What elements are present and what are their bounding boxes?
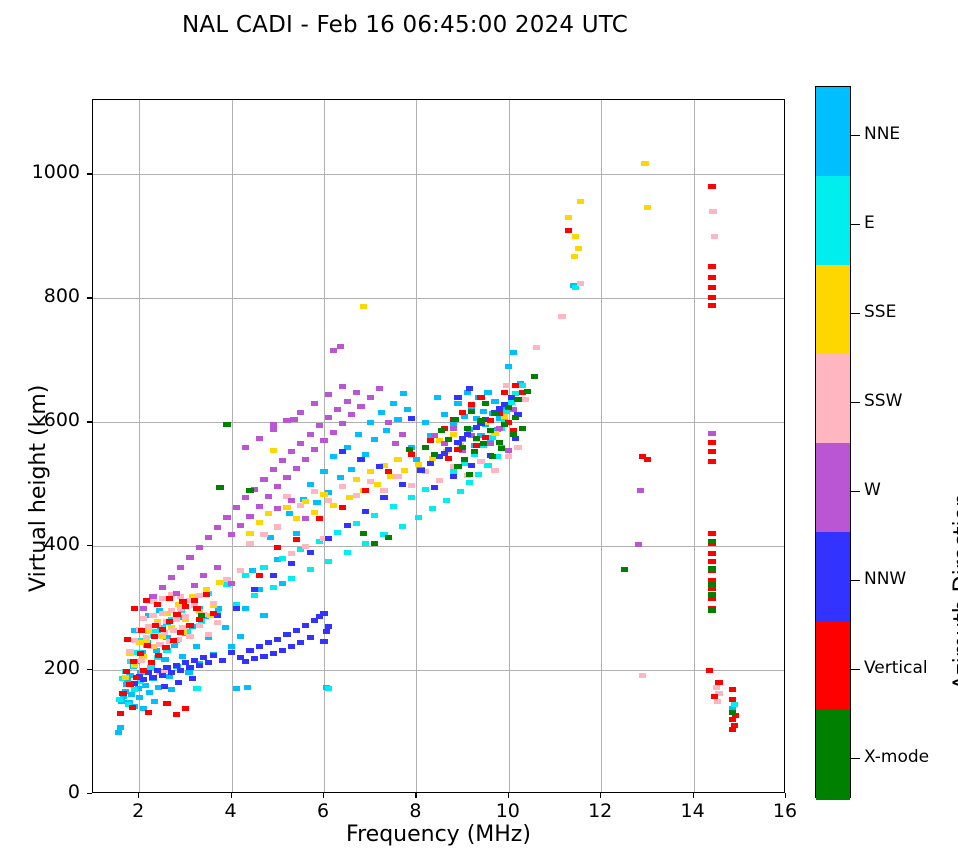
colorbar-label-w: W (864, 480, 881, 500)
data-point (154, 602, 161, 607)
data-point (203, 592, 210, 597)
data-point (186, 623, 193, 628)
data-point (214, 620, 221, 625)
data-point (713, 685, 720, 690)
data-point (205, 632, 212, 637)
data-point (362, 488, 369, 493)
data-point (297, 441, 304, 446)
data-point (143, 598, 150, 603)
data-point (457, 489, 464, 494)
data-point (392, 441, 399, 446)
data-point (223, 515, 230, 520)
data-point (471, 449, 478, 454)
data-point (279, 648, 286, 653)
data-point (288, 449, 295, 454)
x-tick-label: 14 (663, 800, 723, 822)
data-point (325, 686, 332, 691)
data-point (519, 383, 526, 388)
data-point (325, 559, 332, 564)
data-point (477, 395, 484, 400)
x-tick-mark (600, 793, 601, 798)
data-point (293, 628, 300, 633)
data-point (179, 654, 186, 659)
data-point (408, 483, 415, 488)
data-point (168, 687, 175, 692)
data-point (644, 205, 651, 210)
data-point (246, 531, 253, 536)
data-point (138, 658, 145, 663)
data-point (270, 573, 277, 578)
data-point (124, 637, 131, 642)
colorbar-label-nne: NNE (864, 124, 900, 144)
data-point (159, 627, 166, 632)
data-point (302, 457, 309, 462)
data-point (565, 215, 572, 220)
data-point (274, 524, 281, 529)
data-point (577, 199, 584, 204)
data-point (415, 515, 422, 520)
data-point (210, 611, 217, 616)
data-point (222, 625, 229, 630)
data-point (288, 644, 295, 649)
data-point (334, 407, 341, 412)
data-point (505, 405, 512, 410)
data-point (293, 516, 300, 521)
data-point (708, 285, 715, 290)
data-point (265, 494, 272, 499)
data-point (708, 608, 715, 613)
data-point (117, 711, 124, 716)
data-point (429, 506, 436, 511)
data-point (233, 686, 240, 691)
x-tick-label: 4 (201, 800, 261, 822)
data-point (558, 314, 565, 319)
data-point (131, 606, 138, 611)
data-point (256, 504, 263, 509)
data-point (214, 525, 221, 530)
y-tick-label: 0 (16, 781, 80, 803)
data-point (159, 585, 166, 590)
data-point (394, 417, 401, 422)
data-point (641, 161, 648, 166)
data-point (198, 613, 205, 618)
data-point (297, 410, 304, 415)
data-point (355, 432, 362, 437)
data-point (246, 514, 253, 519)
colorbar-tick (851, 313, 860, 314)
data-point (228, 644, 235, 649)
data-point (443, 498, 450, 503)
data-point (400, 391, 407, 396)
data-point (288, 561, 295, 566)
data-point (480, 441, 487, 446)
data-point (270, 585, 277, 590)
data-point (214, 565, 221, 570)
data-point (270, 651, 277, 656)
data-point (175, 680, 182, 685)
data-point (729, 710, 736, 715)
data-point (191, 598, 198, 603)
data-point (367, 395, 374, 400)
data-point (399, 482, 406, 487)
data-point (123, 669, 130, 674)
data-point (228, 581, 235, 586)
data-point (503, 383, 510, 388)
data-point (307, 567, 314, 572)
y-tick-mark (87, 793, 92, 794)
data-point (339, 484, 346, 489)
data-point (362, 509, 369, 514)
data-point (715, 680, 722, 685)
data-point (129, 705, 136, 710)
data-point (466, 386, 473, 391)
data-point (621, 567, 628, 572)
data-point (297, 503, 304, 508)
data-point (130, 659, 137, 664)
data-point (464, 426, 471, 431)
data-point (371, 437, 378, 442)
data-point (166, 596, 173, 601)
data-point (452, 417, 459, 422)
data-point (480, 409, 487, 414)
colorbar-band-ssw[interactable] (816, 354, 850, 444)
data-point (242, 659, 249, 664)
data-point (461, 457, 468, 462)
colorbar-band-e[interactable] (816, 176, 850, 266)
data-point (219, 658, 226, 663)
data-point (404, 407, 411, 412)
data-point (162, 645, 169, 650)
data-point (216, 485, 223, 490)
data-point (367, 479, 374, 484)
data-point (137, 651, 144, 656)
data-point (256, 573, 263, 578)
plot-area (92, 99, 785, 793)
data-point (487, 428, 494, 433)
data-point (505, 364, 512, 369)
colorbar-label-ssw: SSW (864, 391, 902, 411)
data-point (136, 695, 143, 700)
data-point (459, 410, 466, 415)
data-point (468, 402, 475, 407)
data-point (422, 420, 429, 425)
data-point (205, 535, 212, 540)
data-point (140, 677, 147, 682)
data-point (115, 730, 122, 735)
data-point (531, 374, 538, 379)
data-point (477, 459, 484, 464)
x-tick-label: 16 (755, 800, 815, 822)
data-point (482, 435, 489, 440)
data-point (168, 575, 175, 580)
data-point (565, 228, 572, 233)
colorbar-tick (851, 580, 860, 581)
colorbar-band-nne[interactable] (816, 87, 850, 177)
data-point (454, 464, 461, 469)
scatter-points (93, 100, 784, 792)
colorbar-band-sse[interactable] (816, 265, 850, 355)
data-point (117, 725, 124, 730)
data-point (491, 399, 498, 404)
data-point (288, 498, 295, 503)
data-point (186, 555, 193, 560)
data-point (408, 495, 415, 500)
data-point (445, 437, 452, 442)
data-point (270, 467, 277, 472)
data-point (307, 550, 314, 555)
colorbar-tick (851, 669, 860, 670)
data-point (182, 604, 189, 609)
data-point (159, 673, 166, 678)
data-point (168, 670, 175, 675)
data-point (177, 565, 184, 570)
data-point (482, 401, 489, 406)
data-point (233, 606, 240, 611)
data-point (302, 623, 309, 628)
data-point (344, 399, 351, 404)
data-point (731, 723, 738, 728)
data-point (323, 629, 330, 634)
data-point (337, 475, 344, 480)
colorbar-band-vertical[interactable] (816, 621, 850, 711)
data-point (380, 488, 387, 493)
colorbar-tick (851, 758, 860, 759)
colorbar-band-w[interactable] (816, 443, 850, 533)
colorbar-tick (851, 402, 860, 403)
colorbar-tick (851, 224, 860, 225)
data-point (383, 428, 390, 433)
data-point (205, 660, 212, 665)
data-point (161, 657, 168, 662)
data-point (189, 676, 196, 681)
data-point (512, 383, 519, 388)
data-point (325, 536, 332, 541)
data-point (200, 573, 207, 578)
y-tick-mark (87, 545, 92, 546)
data-point (731, 702, 738, 707)
data-point (487, 418, 494, 423)
data-point (155, 653, 162, 658)
data-point (635, 542, 642, 547)
data-point (510, 350, 517, 355)
data-point (307, 635, 314, 640)
data-point (228, 532, 235, 537)
x-tick-mark (693, 793, 694, 798)
data-point (406, 447, 413, 452)
data-point (237, 568, 244, 573)
data-point (466, 480, 473, 485)
data-point (450, 474, 457, 479)
data-point (288, 551, 295, 556)
data-point (438, 428, 445, 433)
data-point (708, 449, 715, 454)
data-point (459, 436, 466, 441)
colorbar-label-sse: SSE (864, 302, 896, 322)
data-point (260, 613, 267, 618)
data-point (244, 685, 251, 690)
data-point (399, 524, 406, 529)
data-point (161, 684, 168, 689)
data-point (182, 614, 189, 619)
data-point (330, 503, 337, 508)
data-point (311, 489, 318, 494)
data-point (385, 469, 392, 474)
data-point (246, 648, 253, 653)
data-point (279, 458, 286, 463)
data-point (173, 617, 180, 622)
data-point (265, 640, 272, 645)
data-point (637, 488, 644, 493)
data-point (385, 535, 392, 540)
data-point (122, 675, 129, 680)
data-point (265, 511, 272, 516)
data-point (274, 484, 281, 489)
data-point (339, 449, 346, 454)
data-point (510, 432, 517, 437)
data-point (320, 611, 327, 616)
x-tick-mark (508, 793, 509, 798)
data-point (242, 606, 249, 611)
data-point (166, 619, 173, 624)
data-point (454, 395, 461, 400)
data-point (501, 390, 508, 395)
colorbar-band-x-mode[interactable] (816, 710, 850, 800)
data-point (441, 412, 448, 417)
data-point (408, 452, 415, 457)
data-point (270, 448, 277, 453)
colorbar[interactable] (815, 86, 851, 798)
data-point (708, 431, 715, 436)
data-point (505, 454, 512, 459)
data-point (320, 469, 327, 474)
data-point (196, 623, 203, 628)
data-point (575, 246, 582, 251)
x-tick-mark (415, 793, 416, 798)
data-point (246, 488, 253, 493)
data-point (475, 472, 482, 477)
data-point (149, 594, 156, 599)
data-point (325, 415, 332, 420)
data-point (274, 506, 281, 511)
data-point (146, 690, 153, 695)
data-point (260, 654, 267, 659)
data-point (337, 344, 344, 349)
data-point (708, 531, 715, 536)
data-point (293, 466, 300, 471)
data-point (708, 551, 715, 556)
data-point (251, 593, 258, 598)
data-point (151, 634, 158, 639)
data-point (149, 613, 156, 618)
data-point (708, 275, 715, 280)
data-point (325, 624, 332, 629)
data-point (307, 432, 314, 437)
y-tick-label: 600 (16, 409, 80, 431)
data-point (288, 576, 295, 581)
data-point (133, 675, 140, 680)
data-point (357, 404, 364, 409)
data-point (427, 461, 434, 466)
data-point (302, 544, 309, 549)
data-point (491, 468, 498, 473)
data-point (427, 438, 434, 443)
data-point (394, 457, 401, 462)
data-point (173, 591, 180, 596)
data-point (320, 639, 327, 644)
data-point (501, 422, 508, 427)
data-point (459, 445, 466, 450)
data-point (246, 541, 253, 546)
data-point (186, 665, 193, 670)
data-point (242, 445, 249, 450)
data-point (512, 415, 519, 420)
data-point (330, 430, 337, 435)
data-point (708, 459, 715, 464)
data-point (279, 556, 286, 561)
data-point (521, 397, 528, 402)
data-point (477, 418, 484, 423)
data-point (313, 500, 320, 505)
data-point (210, 653, 217, 658)
data-point (496, 440, 503, 445)
data-point (514, 397, 521, 402)
data-point (348, 412, 355, 417)
data-point (140, 668, 147, 673)
x-tick-label: 6 (293, 800, 353, 822)
data-point (385, 420, 392, 425)
data-point (151, 699, 158, 704)
data-point (320, 438, 327, 443)
data-point (131, 687, 138, 692)
data-point (325, 392, 332, 397)
data-point (344, 550, 351, 555)
data-point (316, 423, 323, 428)
data-point (505, 448, 512, 453)
data-point (417, 468, 424, 473)
data-point (431, 485, 438, 490)
data-point (484, 390, 491, 395)
data-point (237, 523, 244, 528)
data-point (311, 401, 318, 406)
data-point (242, 495, 249, 500)
data-point (293, 531, 300, 536)
data-point (283, 505, 290, 510)
data-point (260, 565, 267, 570)
data-point (223, 422, 230, 427)
data-point (163, 701, 170, 706)
data-point (179, 599, 186, 604)
colorbar-band-nnw[interactable] (816, 532, 850, 622)
colorbar-label: Azimuth Direction (950, 493, 958, 690)
x-tick-label: 10 (478, 800, 538, 822)
x-tick-mark (138, 793, 139, 798)
data-point (374, 482, 381, 487)
data-point (639, 454, 646, 459)
x-tick-label: 2 (108, 800, 168, 822)
x-tick-mark (231, 793, 232, 798)
data-point (210, 601, 217, 606)
data-point (302, 516, 309, 521)
chart-title: NAL CADI - Feb 16 06:45:00 2024 UTC (0, 12, 810, 38)
data-point (152, 623, 159, 628)
data-point (708, 440, 715, 445)
data-point (316, 516, 323, 521)
data-point (320, 492, 327, 497)
data-point (274, 637, 281, 642)
y-tick-label: 200 (16, 657, 80, 679)
data-point (454, 401, 461, 406)
data-point (450, 426, 457, 431)
